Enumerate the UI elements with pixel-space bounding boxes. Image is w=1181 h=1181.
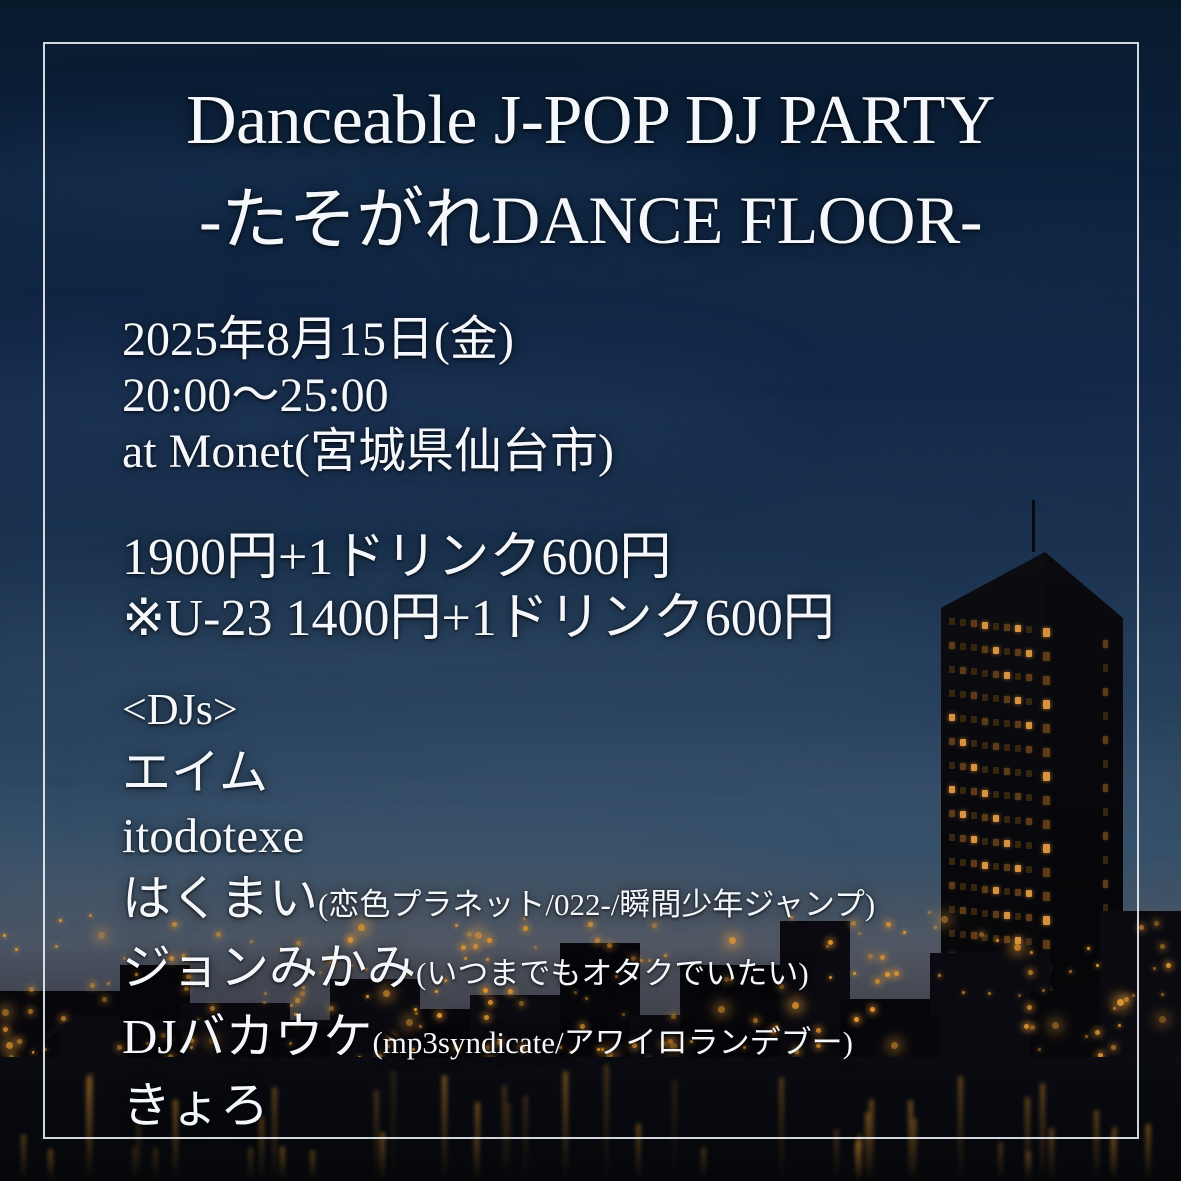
dj-list-item: きょろ: [122, 1074, 875, 1137]
price-block: 1900円+1ドリンク600円 ※U-23 1400円+1ドリンク600円: [122, 527, 835, 649]
price-general: 1900円+1ドリンク600円: [122, 527, 835, 588]
dj-affiliation: (mp3syndicate/アワイロランデブー): [372, 1025, 852, 1060]
dj-name: ジョンみかみ: [122, 940, 416, 995]
dj-list-item: DJバカウケ(mp3syndicate/アワイロランデブー): [122, 1005, 875, 1074]
dj-list-item: エイム: [122, 741, 875, 804]
event-details-block: 2025年8月15日(金) 20:00〜25:00 at Monet(宮城県仙台…: [122, 312, 614, 480]
dj-list-item: はくまい(恋色プラネット/022-/瞬間少年ジャンプ): [122, 867, 875, 936]
dj-list-item: itodotexe: [122, 804, 875, 867]
price-under23: ※U-23 1400円+1ドリンク600円: [122, 588, 835, 649]
dj-list-item: ジョンみかみ(いつまでもオタクでいたい): [122, 936, 875, 1005]
dj-name: きょろ: [122, 1078, 269, 1133]
event-flyer: Danceable J-POP DJ PARTY -たそがれDANCE FLOO…: [0, 0, 1181, 1181]
event-venue: at Monet(宮城県仙台市): [122, 424, 614, 480]
dj-name: はくまい: [122, 871, 318, 926]
dj-affiliation: (恋色プラネット/022-/瞬間少年ジャンプ): [318, 887, 875, 922]
dj-affiliation: (いつまでもオタクでいたい): [416, 956, 809, 991]
dj-name: itodotexe: [122, 808, 304, 863]
dj-name: エイム: [122, 745, 268, 800]
title-line-1: Danceable J-POP DJ PARTY: [0, 86, 1181, 156]
event-date: 2025年8月15日(金): [122, 312, 614, 368]
flyer-text-content: Danceable J-POP DJ PARTY -たそがれDANCE FLOO…: [0, 0, 1181, 1181]
event-time: 20:00〜25:00: [122, 368, 614, 424]
dj-lineup-heading: <DJs>: [122, 678, 875, 741]
dj-name: DJバカウケ: [122, 1009, 372, 1064]
title-line-2: -たそがれDANCE FLOOR-: [0, 186, 1181, 254]
dj-lineup-block: <DJs> エイムitodotexeはくまい(恋色プラネット/022-/瞬間少年…: [122, 678, 875, 1137]
